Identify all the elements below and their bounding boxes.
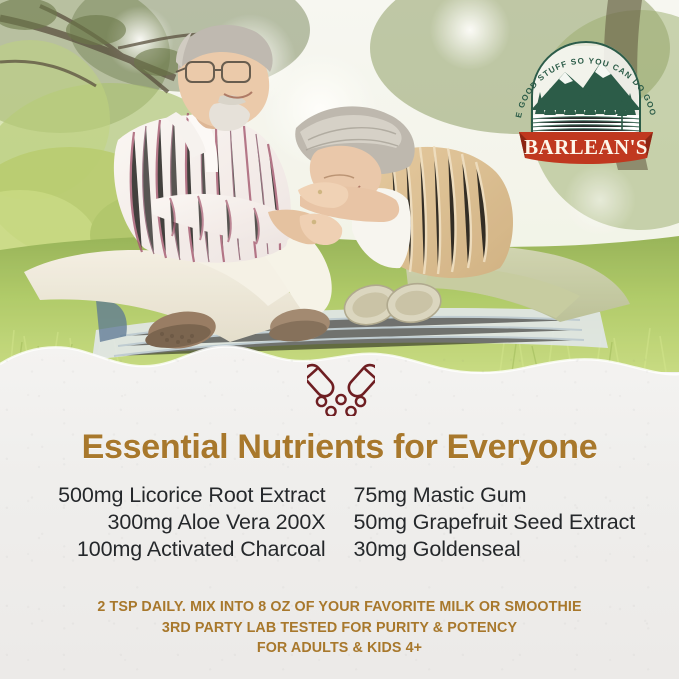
direction-line: 2 TSP DAILY. MIX INTO 8 OZ OF YOUR FAVOR… <box>0 597 679 618</box>
ingredient-item: 50mg Grapefruit Seed Extract <box>354 509 679 536</box>
direction-line: 3RD PARTY LAB TESTED FOR PURITY & POTENC… <box>0 618 679 639</box>
ingredient-item: 75mg Mastic Gum <box>354 482 679 509</box>
ingredients-list: 500mg Licorice Root Extract 300mg Aloe V… <box>0 482 679 563</box>
barleans-logo: WE MAKE GOOD STUFF SO YOU CAN DO GOOD ST… <box>503 36 669 168</box>
ingredient-item: 300mg Aloe Vera 200X <box>0 509 326 536</box>
ingredient-item: 30mg Goldenseal <box>354 536 679 563</box>
logo-brand-name: BARLEAN'S <box>524 135 648 159</box>
product-infographic-card: WE MAKE GOOD STUFF SO YOU CAN DO GOOD ST… <box>0 0 679 679</box>
direction-line: FOR ADULTS & KIDS 4+ <box>0 638 679 659</box>
ingredient-item: 500mg Licorice Root Extract <box>0 482 326 509</box>
ingredient-item: 100mg Activated Charcoal <box>0 536 326 563</box>
page-title: Essential Nutrients for Everyone <box>0 428 679 467</box>
crossed-capsules-icon <box>307 360 375 416</box>
directions-block: 2 TSP DAILY. MIX INTO 8 OZ OF YOUR FAVOR… <box>0 597 679 659</box>
ingredients-column-right: 75mg Mastic Gum 50mg Grapefruit Seed Ext… <box>340 482 679 563</box>
ingredients-column-left: 500mg Licorice Root Extract 300mg Aloe V… <box>0 482 340 563</box>
